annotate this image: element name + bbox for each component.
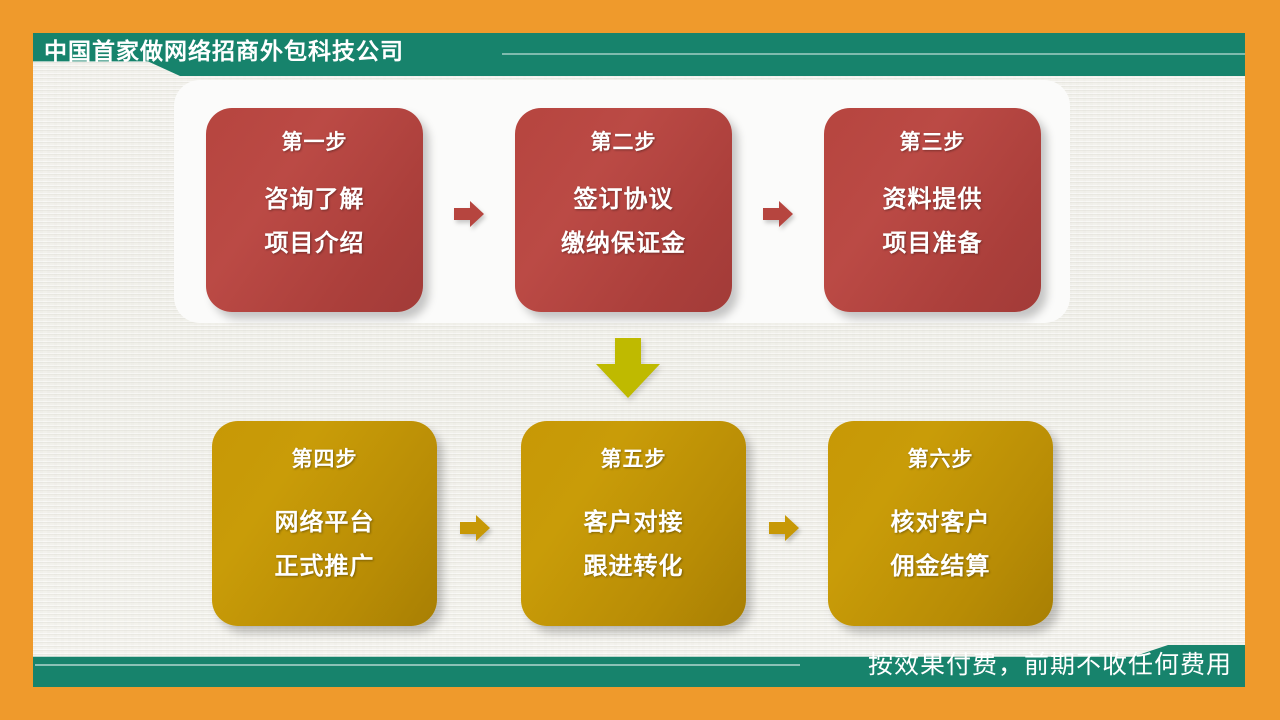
step-card-5-title: 第五步 <box>601 447 667 473</box>
step-card-6-body: 核对客户 佣金结算 <box>891 501 991 589</box>
arrow-right-icon <box>452 197 486 231</box>
step-card-4-title: 第四步 <box>292 447 358 473</box>
arrow-down-icon <box>592 338 664 400</box>
step-card-5-body: 客户对接 跟进转化 <box>584 501 684 589</box>
step-card-3-title: 第三步 <box>900 130 966 156</box>
step-card-6-title: 第六步 <box>908 447 974 473</box>
arrow-right-icon <box>458 511 492 545</box>
step-card-5-line-1: 客户对接 <box>584 501 684 545</box>
step-card-5-line-2: 跟进转化 <box>584 545 684 589</box>
step-card-4-line-1: 网络平台 <box>275 501 375 545</box>
step-card-5[interactable]: 第五步 客户对接 跟进转化 <box>521 421 746 626</box>
step-card-3-line-1: 资料提供 <box>883 178 983 222</box>
step-card-3-line-2: 项目准备 <box>883 222 983 266</box>
step-card-1[interactable]: 第一步 咨询了解 项目介绍 <box>206 108 423 312</box>
step-card-1-title: 第一步 <box>282 130 348 156</box>
step-card-4-body: 网络平台 正式推广 <box>275 501 375 589</box>
step-card-6-line-2: 佣金结算 <box>891 545 991 589</box>
step-card-1-body: 咨询了解 项目介绍 <box>265 178 365 266</box>
slide-root: 中国首家做网络招商外包科技公司 第一步 咨询了解 项目介绍 第二步 签订协议 缴… <box>0 0 1280 720</box>
step-card-2-title: 第二步 <box>591 130 657 156</box>
step-card-2-body: 签订协议 缴纳保证金 <box>561 178 686 266</box>
step-card-1-line-2: 项目介绍 <box>265 222 365 266</box>
step-card-4[interactable]: 第四步 网络平台 正式推广 <box>212 421 437 626</box>
footer-tagline: 按效果付费，前期不收任何费用 <box>868 646 1232 684</box>
step-card-3-body: 资料提供 项目准备 <box>883 178 983 266</box>
step-card-6[interactable]: 第六步 核对客户 佣金结算 <box>828 421 1053 626</box>
header-banner-accent-line <box>502 53 1245 55</box>
step-card-1-line-1: 咨询了解 <box>265 178 365 222</box>
step-card-4-line-2: 正式推广 <box>275 545 375 589</box>
step-card-2-line-1: 签订协议 <box>574 178 674 222</box>
step-card-6-line-1: 核对客户 <box>891 501 991 545</box>
step-card-2[interactable]: 第二步 签订协议 缴纳保证金 <box>515 108 732 312</box>
arrow-right-icon <box>767 511 801 545</box>
step-card-3[interactable]: 第三步 资料提供 项目准备 <box>824 108 1041 312</box>
arrow-right-icon <box>761 197 795 231</box>
step-card-2-line-2: 缴纳保证金 <box>561 222 686 266</box>
footer-banner-accent-line <box>35 664 800 666</box>
page-title: 中国首家做网络招商外包科技公司 <box>44 37 404 65</box>
